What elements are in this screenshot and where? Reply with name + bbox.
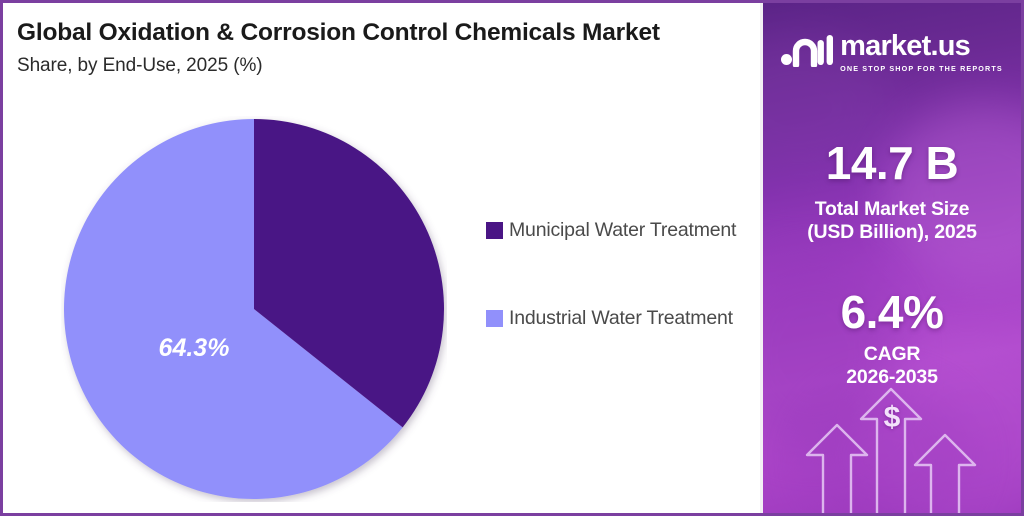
background-texture-blotch	[883, 103, 1021, 283]
cagr-caption: CAGR 2026-2035	[763, 343, 1021, 389]
page-title: Global Oxidation & Corrosion Control Che…	[17, 19, 747, 47]
infographic-root: Global Oxidation & Corrosion Control Che…	[0, 0, 1024, 516]
total-market-size-value: 14.7 B	[763, 136, 1021, 190]
total-market-size-caption-line1: Total Market Size	[763, 198, 1021, 221]
logo-text: market.us ONE STOP SHOP FOR THE REPORTS	[840, 32, 1003, 73]
total-market-size-caption-line2: (USD Billion), 2025	[763, 221, 1021, 244]
logo-wordmark: market.us	[840, 30, 970, 62]
logo-tagline: ONE STOP SHOP FOR THE REPORTS	[840, 64, 1003, 73]
legend-swatch-municipal	[486, 222, 503, 239]
legend-item-municipal[interactable]: Municipal Water Treatment	[486, 213, 758, 247]
legend-label-municipal: Municipal Water Treatment	[509, 219, 736, 242]
chart-panel: Global Oxidation & Corrosion Control Che…	[3, 3, 760, 513]
pie-slice-label-industrial: 64.3%	[159, 334, 230, 362]
pie-chart-svg: 64.3%	[61, 116, 447, 502]
legend-swatch-industrial	[486, 310, 503, 327]
pie-chart: 64.3%	[61, 116, 447, 502]
growth-arrows-icon	[763, 385, 1021, 513]
legend-item-industrial[interactable]: Industrial Water Treatment	[486, 301, 758, 335]
market-us-logo-icon	[781, 33, 833, 72]
chart-legend: Municipal Water Treatment Industrial Wat…	[486, 213, 758, 389]
legend-label-industrial: Industrial Water Treatment	[509, 307, 733, 330]
cagr-value: 6.4%	[763, 285, 1021, 339]
brand-panel: market.us ONE STOP SHOP FOR THE REPORTS …	[763, 3, 1021, 513]
chart-subtitle: Share, by End-Use, 2025 (%)	[17, 55, 517, 77]
cagr-caption-line1: CAGR	[763, 343, 1021, 366]
brand-logo[interactable]: market.us ONE STOP SHOP FOR THE REPORTS	[763, 32, 1021, 73]
total-market-size-caption: Total Market Size (USD Billion), 2025	[763, 198, 1021, 244]
